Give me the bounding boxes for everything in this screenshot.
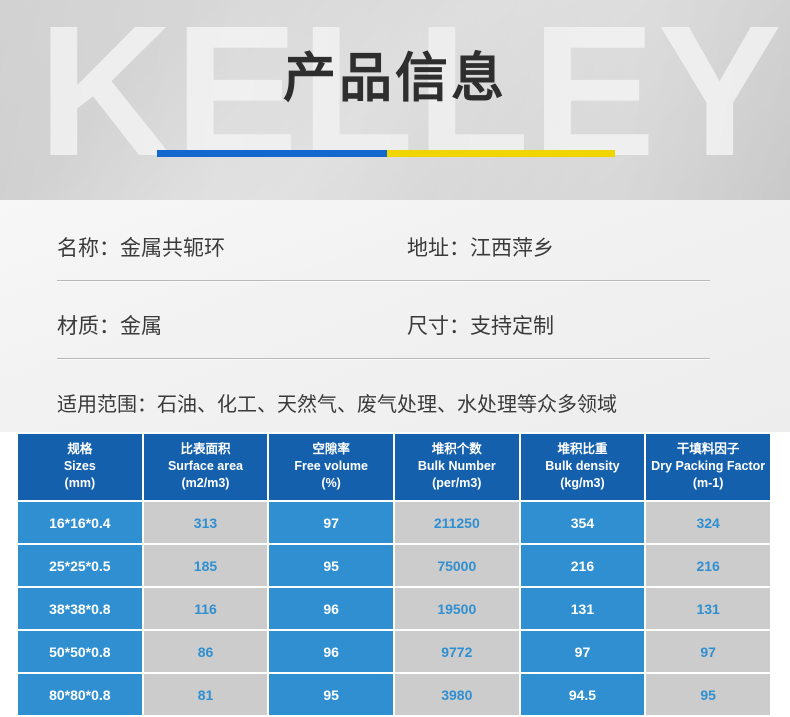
- column-header-cn: 堆积比重: [523, 441, 643, 458]
- info-field-address: 地址：江西萍乡: [407, 232, 710, 262]
- table-cell: 38*38*0.8: [18, 588, 142, 629]
- column-header-cn: 干填料因子: [648, 441, 768, 458]
- table-cell: 9772: [395, 631, 519, 672]
- table-row: 80*80*0.88195398094.595: [18, 674, 770, 715]
- table-cell: 131: [521, 588, 645, 629]
- table-row: 50*50*0.8869697729797: [18, 631, 770, 672]
- info-value-size: 支持定制: [470, 315, 554, 338]
- column-header-unit: (mm): [20, 475, 140, 492]
- accent-bar-yellow-segment: [387, 150, 615, 157]
- table-cell: 80*80*0.8: [18, 674, 142, 715]
- table-header-row: 规格Sizes(mm)比表面积Surface area(m2/m3)空隙率Fre…: [18, 434, 770, 500]
- table-cell: 95: [646, 674, 770, 715]
- info-label-address: 地址：: [407, 237, 470, 260]
- table-cell: 131: [646, 588, 770, 629]
- column-header-en: Dry Packing Factor: [648, 458, 768, 475]
- accent-bar-blue-segment: [157, 150, 387, 157]
- table-row: 16*16*0.431397211250354324: [18, 502, 770, 543]
- table-cell: 324: [646, 502, 770, 543]
- table-cell: 16*16*0.4: [18, 502, 142, 543]
- product-info-panel: 名称：金属共轭环 地址：江西萍乡 材质：金属 尺寸：支持定制 适用范围：石油、化…: [0, 200, 790, 432]
- info-label-scope: 适用范围：: [57, 394, 157, 416]
- info-divider-2: [57, 358, 710, 359]
- table-cell: 25*25*0.5: [18, 545, 142, 586]
- table-body: 16*16*0.43139721125035432425*25*0.518595…: [18, 502, 770, 715]
- column-header-cn: 堆积个数: [397, 441, 517, 458]
- table-cell: 97: [269, 502, 393, 543]
- column-header-unit: (per/m3): [397, 475, 517, 492]
- info-divider-1: [57, 280, 710, 281]
- table-cell: 97: [646, 631, 770, 672]
- column-header-en: Sizes: [20, 458, 140, 475]
- column-header-unit: (m-1): [648, 475, 768, 492]
- table-column-header-0: 规格Sizes(mm): [18, 434, 142, 500]
- table-cell: 96: [269, 588, 393, 629]
- specification-table: 规格Sizes(mm)比表面积Surface area(m2/m3)空隙率Fre…: [16, 432, 772, 717]
- table-header: 规格Sizes(mm)比表面积Surface area(m2/m3)空隙率Fre…: [18, 434, 770, 500]
- table-column-header-5: 干填料因子Dry Packing Factor(m-1): [646, 434, 770, 500]
- column-header-en: Free volume: [271, 458, 391, 475]
- table-cell: 86: [144, 631, 268, 672]
- page-title: 产品信息: [0, 46, 790, 112]
- column-header-unit: (kg/m3): [523, 475, 643, 492]
- info-field-name: 名称：金属共轭环: [57, 232, 407, 262]
- column-header-en: Bulk Number: [397, 458, 517, 475]
- table-column-header-3: 堆积个数Bulk Number(per/m3): [395, 434, 519, 500]
- info-row-material-size: 材质：金属 尺寸：支持定制: [57, 292, 710, 357]
- table-column-header-4: 堆积比重Bulk density(kg/m3): [521, 434, 645, 500]
- column-header-unit: (m2/m3): [146, 475, 266, 492]
- info-value-name: 金属共轭环: [120, 237, 225, 260]
- table-cell: 3980: [395, 674, 519, 715]
- column-header-en: Bulk density: [523, 458, 643, 475]
- table-cell: 19500: [395, 588, 519, 629]
- column-header-cn: 空隙率: [271, 441, 391, 458]
- page-banner: KELLEY 产品信息: [0, 0, 790, 200]
- info-label-size: 尺寸：: [407, 315, 470, 338]
- info-label-name: 名称：: [57, 237, 120, 260]
- table-cell: 95: [269, 674, 393, 715]
- info-field-material: 材质：金属: [57, 310, 407, 340]
- table-cell: 211250: [395, 502, 519, 543]
- column-header-en: Surface area: [146, 458, 266, 475]
- table-cell: 216: [521, 545, 645, 586]
- specification-table-container: 规格Sizes(mm)比表面积Surface area(m2/m3)空隙率Fre…: [0, 432, 790, 717]
- table-cell: 116: [144, 588, 268, 629]
- table-column-header-2: 空隙率Free volume(%): [269, 434, 393, 500]
- table-row: 25*25*0.51859575000216216: [18, 545, 770, 586]
- info-value-material: 金属: [120, 315, 162, 338]
- column-header-cn: 比表面积: [146, 441, 266, 458]
- table-cell: 313: [144, 502, 268, 543]
- table-cell: 216: [646, 545, 770, 586]
- table-cell: 97: [521, 631, 645, 672]
- table-cell: 95: [269, 545, 393, 586]
- info-value-address: 江西萍乡: [470, 237, 554, 260]
- table-cell: 354: [521, 502, 645, 543]
- title-accent-bar: [157, 150, 615, 157]
- table-cell: 50*50*0.8: [18, 631, 142, 672]
- table-cell: 75000: [395, 545, 519, 586]
- info-field-size: 尺寸：支持定制: [407, 310, 710, 340]
- info-field-scope: 适用范围：石油、化工、天然气、废气处理、水处理等众多领域: [57, 388, 710, 417]
- info-label-material: 材质：: [57, 315, 120, 338]
- table-row: 38*38*0.81169619500131131: [18, 588, 770, 629]
- table-cell: 94.5: [521, 674, 645, 715]
- info-row-scope: 适用范围：石油、化工、天然气、废气处理、水处理等众多领域: [57, 370, 710, 435]
- table-column-header-1: 比表面积Surface area(m2/m3): [144, 434, 268, 500]
- table-cell: 185: [144, 545, 268, 586]
- info-row-name-address: 名称：金属共轭环 地址：江西萍乡: [57, 214, 710, 279]
- column-header-cn: 规格: [20, 441, 140, 458]
- table-cell: 96: [269, 631, 393, 672]
- info-value-scope: 石油、化工、天然气、废气处理、水处理等众多领域: [157, 394, 617, 416]
- column-header-unit: (%): [271, 475, 391, 492]
- table-cell: 81: [144, 674, 268, 715]
